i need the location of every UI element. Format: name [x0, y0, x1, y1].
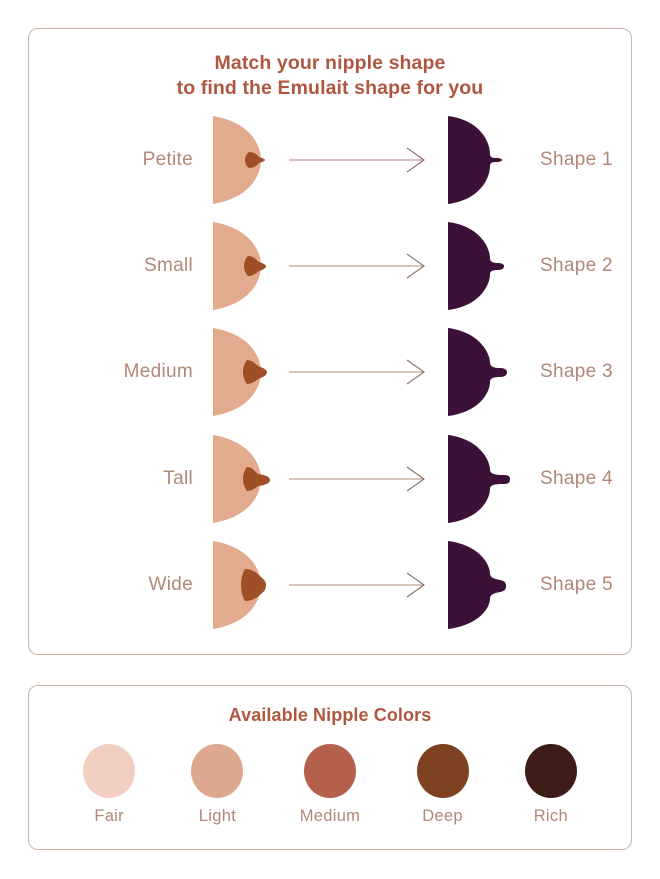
page-title: Match your nipple shape to find the Emul… [29, 51, 631, 101]
emulait-shape-label: Shape 5 [516, 574, 631, 596]
breast-profile-icon [209, 220, 271, 312]
color-swatch-label: Light [199, 807, 236, 826]
breast-profile-icon [209, 433, 271, 525]
emulait-shape-label: Shape 2 [516, 255, 631, 277]
list-item[interactable]: Fair [83, 744, 135, 826]
shape-match-card: Match your nipple shape to find the Emul… [28, 28, 632, 655]
color-swatch-label: Fair [94, 807, 124, 826]
color-swatch-medium[interactable] [304, 744, 356, 798]
bottle-nipple-icon [446, 326, 516, 418]
breast-profile-icon [209, 539, 271, 631]
nipple-shape-label: Wide [29, 574, 209, 596]
table-row: Small S [29, 216, 631, 316]
list-item[interactable]: Deep [417, 744, 469, 826]
color-swatch-deep[interactable] [417, 744, 469, 798]
match-arrow-icon [271, 147, 446, 173]
color-swatch-light[interactable] [191, 744, 243, 798]
nipple-shape-label: Petite [29, 149, 209, 171]
list-item[interactable]: Light [191, 744, 243, 826]
table-row: Petite [29, 110, 631, 210]
available-colors-card: Available Nipple Colors Fair Light Mediu… [28, 685, 632, 850]
color-swatch-rich[interactable] [525, 744, 577, 798]
emulait-shape-label: Shape 4 [516, 468, 631, 490]
nipple-shape-label: Small [29, 255, 209, 277]
table-row: Medium [29, 322, 631, 422]
bottle-nipple-icon [446, 539, 516, 631]
emulait-shape-label: Shape 1 [516, 149, 631, 171]
emulait-shape-label: Shape 3 [516, 361, 631, 383]
infographic-page: Match your nipple shape to find the Emul… [0, 0, 660, 879]
bottle-nipple-icon [446, 114, 516, 206]
bottle-nipple-icon [446, 220, 516, 312]
list-item[interactable]: Rich [525, 744, 577, 826]
color-swatch-fair[interactable] [83, 744, 135, 798]
nipple-shape-label: Medium [29, 361, 209, 383]
colors-section-title: Available Nipple Colors [29, 704, 631, 726]
table-row: Tall Sh [29, 429, 631, 529]
breast-profile-icon [209, 326, 271, 418]
match-arrow-icon [271, 253, 446, 279]
bottle-nipple-icon [446, 433, 516, 525]
match-arrow-icon [271, 572, 446, 598]
nipple-shape-label: Tall [29, 468, 209, 490]
match-arrow-icon [271, 466, 446, 492]
shape-rows: Petite [29, 107, 631, 644]
list-item[interactable]: Medium [300, 744, 361, 826]
color-swatch-label: Deep [422, 807, 463, 826]
breast-profile-icon [209, 114, 271, 206]
page-title-line-1: Match your nipple shape [49, 51, 611, 76]
table-row: Wide Sh [29, 535, 631, 635]
match-arrow-icon [271, 359, 446, 385]
color-swatch-label: Rich [534, 807, 568, 826]
color-swatch-list: Fair Light Medium Deep Rich [29, 734, 631, 839]
page-title-line-2: to find the Emulait shape for you [49, 76, 611, 101]
color-swatch-label: Medium [300, 807, 361, 826]
